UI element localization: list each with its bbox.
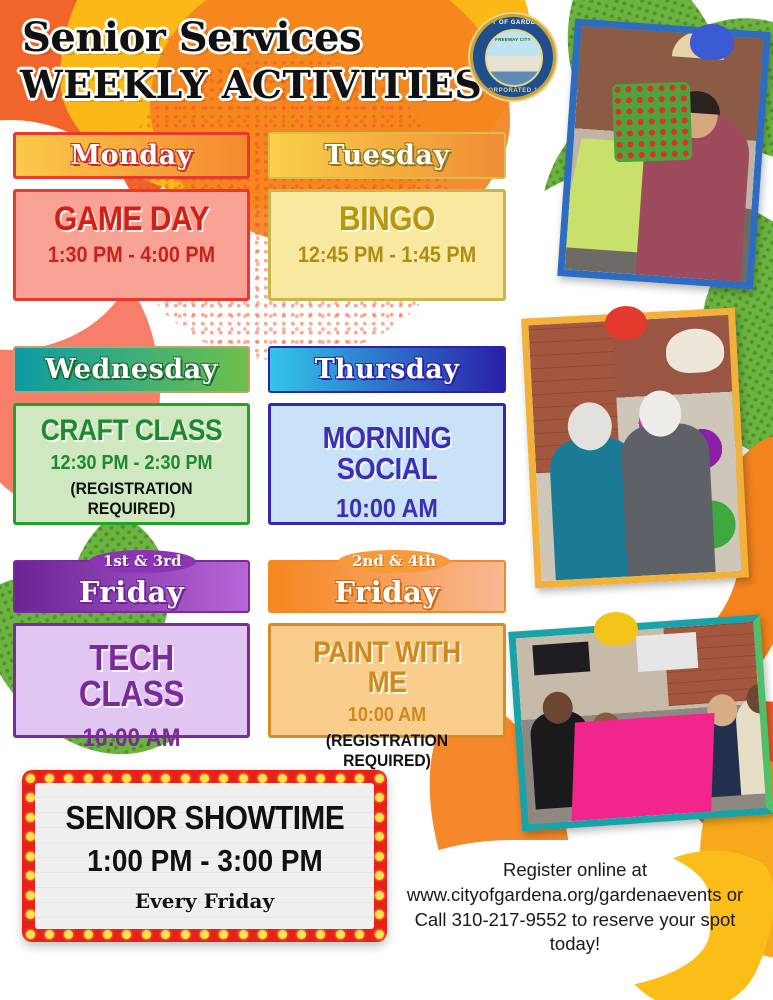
register-line-4: today! [390, 932, 760, 957]
day-banner-friday-2-4: 2nd & 4th Friday [268, 560, 506, 613]
day-block-friday-2-4: 2nd & 4th Friday PAINT WITH ME 10:00 AM … [268, 560, 506, 738]
photo-craft-activity [557, 18, 771, 289]
seal-mid-text: FREEWAY CITY [473, 37, 553, 42]
day-label: Wednesday [45, 354, 218, 385]
marquee-screen: SENIOR SHOWTIME 1:00 PM - 3:00 PM Every … [35, 783, 374, 929]
city-seal-logo: CITY OF GARDENA FREEWAY CITY INCORPORATE… [470, 14, 556, 100]
marquee-bulb [278, 774, 287, 783]
marquee-bulb [258, 930, 267, 939]
day-block-wednesday: Wednesday CRAFT CLASS 12:30 PM - 2:30 PM… [13, 346, 250, 525]
activity-card-tuesday: BINGO 12:45 PM - 1:45 PM [268, 189, 506, 301]
seal-top-text: CITY OF GARDENA [473, 20, 553, 26]
day-label: Friday [334, 575, 439, 609]
page-title-secondary: WEEKLY ACTIVITIES [20, 62, 482, 107]
day-label: Monday [70, 140, 193, 171]
photo-mardi-gras-seniors [521, 308, 749, 589]
activity-card-monday: GAME DAY 1:30 PM - 4:00 PM [13, 189, 250, 301]
marquee-bulb [375, 813, 384, 822]
red-balloon-decoration [605, 306, 647, 340]
marquee-bulb [239, 774, 248, 783]
activity-time: 12:45 PM - 1:45 PM [290, 242, 484, 267]
activity-time: 10:00 AM [35, 724, 229, 753]
marquee-bulb [103, 930, 112, 939]
marquee-subtitle: Every Friday [135, 889, 274, 913]
flyer-poster: Senior Services WEEKLY ACTIVITIES CITY O… [0, 0, 773, 1000]
day-block-friday-1-3: 1st & 3rd Friday TECH CLASS 10:00 AM [13, 560, 250, 738]
activity-time: 10:00 AM [290, 704, 484, 727]
day-label: Thursday [315, 354, 460, 385]
day-banner-monday: Monday [13, 132, 250, 179]
day-label: Tuesday [324, 140, 449, 171]
marquee-bulb [26, 910, 35, 919]
marquee-bulb [375, 832, 384, 841]
activity-title: BINGO [292, 202, 482, 236]
marquee-bulb [103, 774, 112, 783]
activity-card-friday-1-3: TECH CLASS 10:00 AM [13, 623, 250, 738]
photo-senior-lunch [508, 614, 773, 831]
marquee-bulb [181, 774, 190, 783]
marquee-bulb [26, 813, 35, 822]
activity-title: PAINT WITH ME [292, 638, 482, 698]
marquee-bulb [161, 930, 170, 939]
marquee-bulb [84, 930, 93, 939]
activity-time: 1:30 PM - 4:00 PM [35, 242, 229, 267]
activity-card-wednesday: CRAFT CLASS 12:30 PM - 2:30 PM (REGISTRA… [13, 403, 250, 525]
marquee-bulb [84, 774, 93, 783]
marquee-bulb [336, 774, 345, 783]
register-line-2: www.cityofgardena.org/gardenaevents or [390, 883, 760, 908]
day-block-thursday: Thursday MORNING SOCIAL 10:00 AM [268, 346, 506, 525]
marquee-bulb [26, 832, 35, 841]
activity-title: MORNING SOCIAL [292, 422, 482, 484]
marquee-bulb [45, 930, 54, 939]
marquee-bulb [200, 930, 209, 939]
activity-card-thursday: MORNING SOCIAL 10:00 AM [268, 403, 506, 525]
marquee-bulb [142, 930, 151, 939]
activity-time: 12:30 PM - 2:30 PM [35, 452, 229, 475]
marquee-bulb [278, 930, 287, 939]
marquee-bulb [375, 871, 384, 880]
yellow-balloon-decoration [594, 612, 638, 646]
activity-title: TECH CLASS [37, 640, 226, 712]
marquee-bulb [375, 910, 384, 919]
activity-card-friday-2-4: PAINT WITH ME 10:00 AM (REGISTRATION REQ… [268, 623, 506, 738]
marquee-bulb [45, 774, 54, 783]
marquee-bulb [316, 930, 325, 939]
marquee-bulb [355, 774, 364, 783]
marquee-bulb [375, 852, 384, 861]
marquee-bulb [142, 774, 151, 783]
page-title-primary: Senior Services [22, 14, 361, 61]
day-block-tuesday: Tuesday BINGO 12:45 PM - 1:45 PM [268, 132, 506, 301]
seal-bottom-text: INCORPORATED 1930 [473, 88, 553, 94]
marquee-bulb [316, 774, 325, 783]
marquee-bulb [26, 774, 35, 783]
marquee-bulb [26, 793, 35, 802]
ordinal-badge: 2nd & 4th [338, 550, 450, 573]
day-block-monday: Monday GAME DAY 1:30 PM - 4:00 PM [13, 132, 250, 301]
day-banner-friday-1-3: 1st & 3rd Friday [13, 560, 250, 613]
marquee-time: 1:00 PM - 3:00 PM [87, 843, 323, 879]
activity-title: CRAFT CLASS [37, 416, 226, 446]
registration-info: Register online at www.cityofgardena.org… [390, 858, 760, 957]
marquee-bulb [26, 930, 35, 939]
marquee-bulb [375, 793, 384, 802]
marquee-bulb [297, 774, 306, 783]
marquee-bulb [219, 774, 228, 783]
marquee-bulb [355, 930, 364, 939]
activity-title: GAME DAY [37, 202, 226, 236]
marquee-bulb [375, 774, 384, 783]
marquee-bulb [375, 891, 384, 900]
ordinal-badge: 1st & 3rd [89, 550, 196, 573]
marquee-bulb [26, 891, 35, 900]
marquee-bulb [375, 930, 384, 939]
marquee-bulb [258, 774, 267, 783]
senior-showtime-marquee: SENIOR SHOWTIME 1:00 PM - 3:00 PM Every … [22, 770, 387, 942]
marquee-bulb [219, 930, 228, 939]
marquee-bulb [122, 930, 131, 939]
day-banner-tuesday: Tuesday [268, 132, 506, 179]
blue-balloon-decoration [690, 24, 734, 60]
register-line-3: Call 310-217-9552 to reserve your spot [390, 908, 760, 933]
marquee-bulb [122, 774, 131, 783]
marquee-bulb [26, 852, 35, 861]
activity-time: 10:00 AM [290, 494, 484, 524]
marquee-bulb [297, 930, 306, 939]
activity-note: (REGISTRATION REQUIRED) [288, 731, 487, 771]
activity-note: (REGISTRATION REQUIRED) [33, 479, 231, 519]
marquee-bulb [26, 871, 35, 880]
day-label: Friday [79, 575, 184, 609]
marquee-bulb [200, 774, 209, 783]
marquee-bulb [161, 774, 170, 783]
marquee-bulb [181, 930, 190, 939]
day-banner-wednesday: Wednesday [13, 346, 250, 393]
marquee-bulb [239, 930, 248, 939]
day-banner-thursday: Thursday [268, 346, 506, 393]
marquee-bulb [64, 774, 73, 783]
register-line-1: Register online at [390, 858, 760, 883]
marquee-bulb [336, 930, 345, 939]
marquee-bulb [64, 930, 73, 939]
marquee-title: SENIOR SHOWTIME [65, 799, 344, 837]
